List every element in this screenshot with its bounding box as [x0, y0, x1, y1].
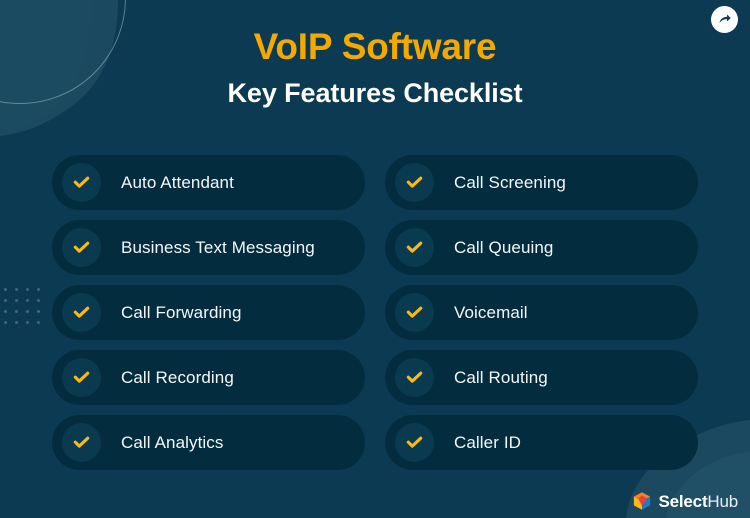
logo-brand-primary: Select	[659, 492, 708, 511]
logo-brand-secondary: Hub	[707, 492, 738, 511]
checklist-item[interactable]: Call Queuing	[385, 220, 698, 275]
checklist-item[interactable]: Call Analytics	[52, 415, 365, 470]
check-icon	[405, 303, 424, 322]
check-circle	[395, 228, 434, 267]
check-circle	[62, 293, 101, 332]
checklist-item-label: Call Routing	[454, 368, 548, 388]
selecthub-logo[interactable]: SelectHub	[632, 491, 738, 511]
feature-checklist: Auto Attendant Call Screening Business T…	[52, 155, 698, 470]
decorative-dot-grid	[4, 288, 48, 332]
checklist-item[interactable]: Call Routing	[385, 350, 698, 405]
checklist-item-label: Voicemail	[454, 303, 528, 323]
checklist-item-label: Caller ID	[454, 433, 521, 453]
check-icon	[405, 173, 424, 192]
check-icon	[72, 433, 91, 452]
checklist-item-label: Call Queuing	[454, 238, 553, 258]
checklist-item-label: Business Text Messaging	[121, 238, 315, 258]
checklist-item-label: Call Recording	[121, 368, 234, 388]
check-icon	[405, 433, 424, 452]
checklist-item-label: Auto Attendant	[121, 173, 234, 193]
check-circle	[62, 228, 101, 267]
check-circle	[395, 293, 434, 332]
selecthub-cube-logo-icon	[632, 491, 652, 511]
checklist-item[interactable]: Caller ID	[385, 415, 698, 470]
check-icon	[72, 238, 91, 257]
check-icon	[72, 368, 91, 387]
checklist-item-label: Call Forwarding	[121, 303, 242, 323]
page-subtitle: Key Features Checklist	[0, 77, 750, 109]
check-icon	[405, 368, 424, 387]
checklist-item[interactable]: Voicemail	[385, 285, 698, 340]
checklist-item-label: Call Analytics	[121, 433, 224, 453]
check-icon	[72, 303, 91, 322]
header-titles: VoIP Software Key Features Checklist	[0, 24, 750, 110]
infographic-canvas: VoIP Software Key Features Checklist Aut…	[0, 0, 750, 518]
checklist-item[interactable]: Business Text Messaging	[52, 220, 365, 275]
checklist-item-label: Call Screening	[454, 173, 566, 193]
selecthub-logo-text: SelectHub	[659, 493, 738, 510]
check-icon	[72, 173, 91, 192]
check-circle	[395, 163, 434, 202]
check-circle	[395, 358, 434, 397]
check-circle	[62, 163, 101, 202]
check-circle	[62, 423, 101, 462]
checklist-item[interactable]: Call Screening	[385, 155, 698, 210]
check-circle	[62, 358, 101, 397]
checklist-item[interactable]: Call Forwarding	[52, 285, 365, 340]
checklist-item[interactable]: Auto Attendant	[52, 155, 365, 210]
checklist-item[interactable]: Call Recording	[52, 350, 365, 405]
check-circle	[395, 423, 434, 462]
check-icon	[405, 238, 424, 257]
page-title: VoIP Software	[0, 24, 750, 69]
